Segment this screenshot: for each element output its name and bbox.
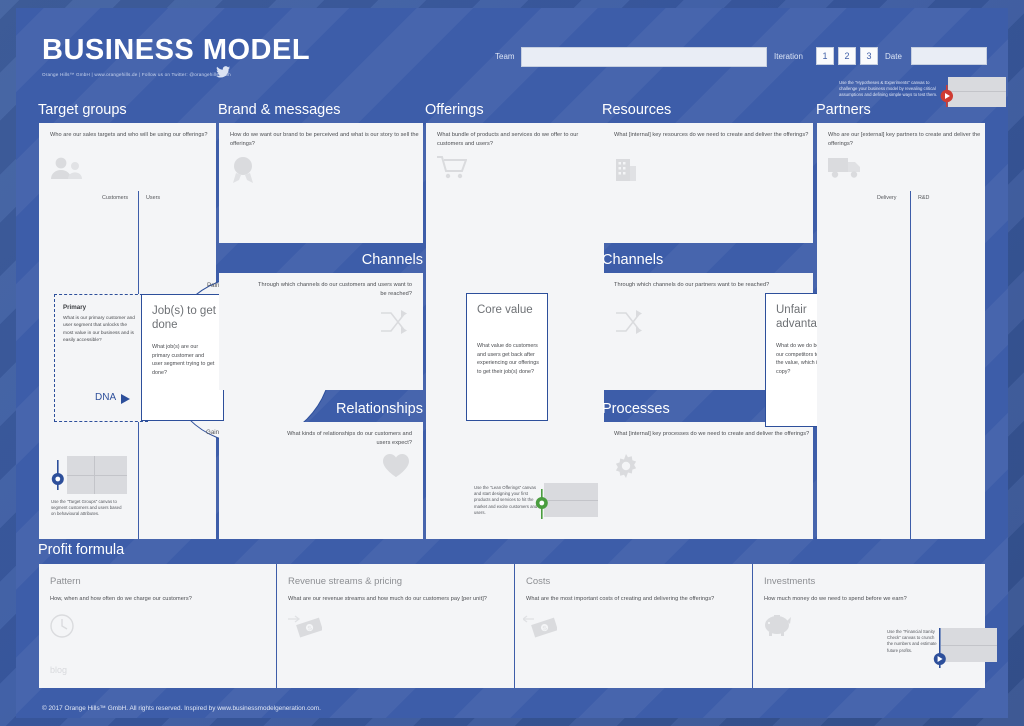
subpanel-question: How much money do we need to spend befor… (764, 595, 980, 604)
tab-rnd[interactable]: R&D (918, 195, 929, 201)
piggy-bank-icon (764, 612, 792, 636)
team-input[interactable] (521, 47, 767, 67)
watermark: blog (50, 665, 67, 675)
panel-resources[interactable]: What [internal] key resources do we need… (603, 123, 813, 243)
panel-profit-formula[interactable]: Pattern How, when and how often do we ch… (39, 564, 985, 688)
date-label: Date (885, 52, 902, 61)
shuffle-icon (379, 309, 409, 335)
section-heading-channels-partner: Channels (602, 252, 663, 268)
team-label: Team (495, 52, 515, 61)
primary-title: Primary (63, 304, 86, 311)
panel-relationships[interactable]: What kinds of relationships do our custo… (219, 422, 423, 539)
subpanel-costs[interactable]: Costs What are the most important costs … (515, 564, 752, 688)
callout-text: Use the "Target Groups" canvas to segmen… (51, 499, 125, 518)
panel-partners[interactable]: Who are our [external] key partners to c… (817, 123, 985, 539)
subpanel-pattern[interactable]: Pattern How, when and how often do we ch… (39, 564, 276, 688)
callout-target-groups: Use the "Target Groups" canvas to segmen… (49, 456, 129, 531)
section-heading-processes: Processes (602, 401, 670, 417)
callout-lean-offerings: Use the "Lean Offerings" canvas and star… (474, 483, 599, 525)
subpanel-question: What are our revenue streams and how muc… (288, 595, 518, 604)
primary-question: What is our primary customer and user se… (63, 315, 137, 345)
date-input[interactable] (911, 47, 987, 65)
tab-delivery[interactable]: Delivery (877, 195, 896, 201)
panel-question: What kinds of relationships do our custo… (284, 430, 412, 447)
jobs-question: What job(s) are our primary customer and… (152, 343, 216, 378)
jobs-title: Job(s) to get done (152, 304, 218, 333)
badge-icon (230, 155, 256, 183)
section-heading-profit-formula: Profit formula (38, 542, 124, 558)
partners-divider (910, 191, 911, 539)
subpanel-title: Investments (764, 576, 815, 587)
callout-thumb-line-v (94, 456, 95, 494)
tab-users[interactable]: Users (146, 195, 160, 201)
map-pin-icon (534, 489, 550, 519)
panel-brand-messages[interactable]: How do we want our brand to be perceived… (219, 123, 423, 243)
callout-financial-sanity: Use the "Financial Sanity Check" canvas … (887, 626, 1005, 674)
panel-question: Through which channels do our partners w… (614, 281, 769, 290)
subpanel-title: Pattern (50, 576, 81, 587)
callout-thumb (948, 77, 1006, 107)
panel-question: What [internal] key processes do we need… (614, 430, 809, 439)
panel-question: What bundle of products and services do … (437, 131, 604, 148)
dna-label[interactable]: DNA (95, 392, 116, 403)
subpanel-question: What are the most important costs of cre… (526, 595, 752, 604)
twitter-bird-icon (216, 66, 230, 78)
panel-processes[interactable]: What [internal] key processes do we need… (603, 422, 813, 539)
section-heading-channels-customer: Channels (256, 252, 423, 268)
section-heading-offerings: Offerings (425, 102, 484, 118)
page-title: BUSINESS MODEL (42, 34, 310, 67)
subpanel-revenue-streams[interactable]: Revenue streams & pricing What are our r… (277, 564, 514, 688)
subpanel-title: Costs (526, 576, 550, 587)
business-model-canvas: BUSINESS MODEL Orange Hills™ GmbH | www.… (16, 8, 1008, 718)
callout-text: Use the "Lean Offerings" canvas and star… (474, 485, 538, 516)
canvas-header: BUSINESS MODEL Orange Hills™ GmbH | www.… (16, 8, 1008, 86)
section-heading-brand-messages: Brand & messages (218, 102, 341, 118)
iteration-option-3[interactable]: 3 (860, 47, 878, 65)
building-icon (614, 155, 638, 181)
iteration-option-2[interactable]: 2 (838, 47, 856, 65)
section-heading-relationships: Relationships (256, 401, 423, 417)
subpanel-question: How, when and how often do we charge our… (50, 595, 260, 604)
callout-thumb-line (544, 500, 598, 501)
iteration-label: Iteration (774, 52, 803, 61)
callout-thumb-line (948, 91, 1006, 92)
callout-thumb-line (67, 475, 127, 476)
map-pin-icon (932, 628, 948, 668)
shuffle-icon (614, 309, 644, 335)
subpanel-title: Revenue streams & pricing (288, 576, 402, 587)
core-value-question: What value do customers and users get ba… (477, 342, 541, 377)
map-pin-icon (939, 85, 955, 107)
section-heading-resources: Resources (602, 102, 671, 118)
company-subtitle: Orange Hills™ GmbH | www.orangehills.de … (42, 72, 231, 77)
section-heading-partners: Partners (816, 102, 871, 118)
tab-customers[interactable]: Customers (102, 195, 128, 201)
heart-icon (383, 454, 409, 478)
map-pin-icon (50, 460, 66, 490)
panel-question: Who are our sales targets and who will b… (50, 131, 208, 140)
gear-icon (614, 454, 638, 478)
iteration-option-1[interactable]: 1 (816, 47, 834, 65)
callout-text: Use the "Financial Sanity Check" canvas … (887, 629, 937, 654)
core-value-box[interactable]: Core value What value do customers and u… (466, 293, 548, 421)
truck-icon (828, 155, 862, 179)
footer-copyright: © 2017 Orange Hills™ GmbH. All rights re… (42, 705, 321, 712)
people-icon (50, 157, 84, 179)
panel-question: How do we want our brand to be perceived… (230, 131, 423, 148)
section-heading-target-groups: Target groups (38, 102, 127, 118)
panel-question: Through which channels do our customers … (252, 281, 412, 298)
money-out-icon: S (523, 613, 557, 639)
panel-question: What [internal] key resources do we need… (614, 131, 808, 140)
shopping-cart-icon (437, 155, 467, 179)
panel-question: Who are our [external] key partners to c… (828, 131, 985, 148)
callout-thumb-line (941, 645, 997, 646)
play-triangle-icon[interactable] (121, 394, 130, 404)
subpanel-investments[interactable]: Investments How much money do we need to… (753, 564, 985, 688)
panel-channels-customer[interactable]: Through which channels do our customers … (219, 273, 423, 390)
primary-segment-box[interactable]: Primary What is our primary customer and… (54, 294, 148, 422)
money-in-icon: S (288, 613, 322, 639)
callout-text: Use the "Hypotheses & Experiments" canva… (839, 80, 947, 99)
clock-icon (50, 614, 74, 638)
jobs-to-get-done-box[interactable]: Job(s) to get done What job(s) are our p… (141, 294, 224, 421)
core-value-title: Core value (477, 303, 539, 317)
